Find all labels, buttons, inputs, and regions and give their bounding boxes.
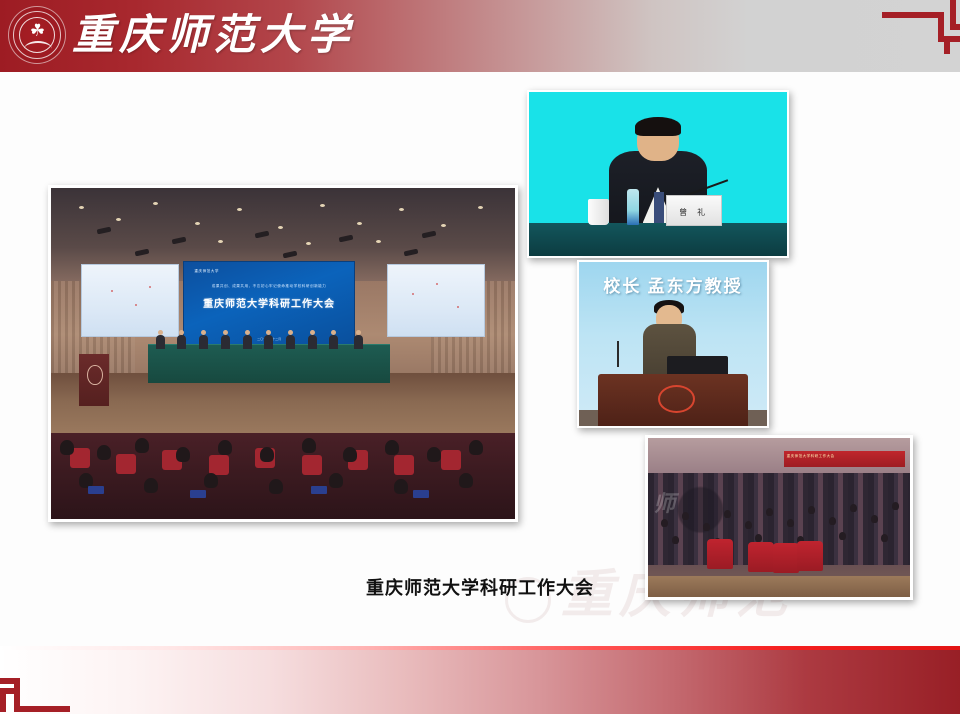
speaker-nameplate-text: 曾 礼 bbox=[667, 207, 722, 218]
water-bottle bbox=[627, 189, 639, 225]
speaker-nameplate: 曾 礼 bbox=[666, 195, 723, 226]
crowd-red-banner: 重庆师范大学科研工作大会 bbox=[784, 451, 905, 467]
hall-panel-table bbox=[148, 344, 389, 384]
podium-speaker-photo: 校长 孟东方教授 bbox=[577, 260, 769, 428]
stage-screen-subtitle: 成果共创、成果共用，不忘初心牢记使命推动学校科研创新能力 bbox=[194, 284, 343, 289]
stage-screen-logo-text: 重庆师范大学 bbox=[194, 269, 219, 274]
crowd-red-seats bbox=[669, 537, 842, 578]
hall-podium bbox=[79, 354, 109, 407]
hall-right-side-screen bbox=[387, 264, 484, 337]
presentation-slide: ☘ 重庆师范大学 重庆师范 bbox=[0, 0, 960, 720]
footer-base-strip bbox=[0, 714, 960, 720]
lectern bbox=[598, 374, 748, 426]
university-name-title: 重庆师范大学 bbox=[72, 4, 354, 68]
conference-table bbox=[529, 223, 787, 256]
hall-audience-seating bbox=[51, 433, 515, 519]
slide-header: ☘ 重庆师范大学 bbox=[0, 0, 960, 72]
podium-microphone-icon bbox=[617, 341, 619, 367]
emblem-flame-icon: ☘ bbox=[27, 21, 48, 41]
tea-cup bbox=[588, 199, 609, 225]
footer-gradient-band bbox=[0, 650, 960, 714]
slide-caption: 重庆师范大学科研工作大会 bbox=[0, 574, 960, 600]
corner-motif-top-right-icon bbox=[878, 0, 960, 66]
podium-overlay-caption: 校长 孟东方教授 bbox=[579, 272, 767, 297]
speaker-hair bbox=[635, 117, 681, 137]
slide-body: 重庆师范 bbox=[0, 72, 960, 646]
speaker-tie bbox=[654, 192, 664, 223]
hall-left-side-screen bbox=[81, 264, 178, 337]
seated-speaker-photo: 曾 礼 bbox=[527, 90, 789, 258]
university-emblem-icon: ☘ bbox=[8, 6, 66, 64]
crowd-banner-text: 重庆师范大学科研工作大会 bbox=[787, 454, 835, 459]
crowd-photo-watermark: 师 bbox=[653, 486, 675, 518]
conference-hall-wide-photo: 重庆师范大学 成果共创、成果共用，不忘初心牢记使命推动学校科研创新能力 重庆师范… bbox=[48, 185, 518, 522]
stage-screen-title: 重庆师范大学科研工作大会 bbox=[191, 295, 347, 310]
slide-footer bbox=[0, 646, 960, 720]
